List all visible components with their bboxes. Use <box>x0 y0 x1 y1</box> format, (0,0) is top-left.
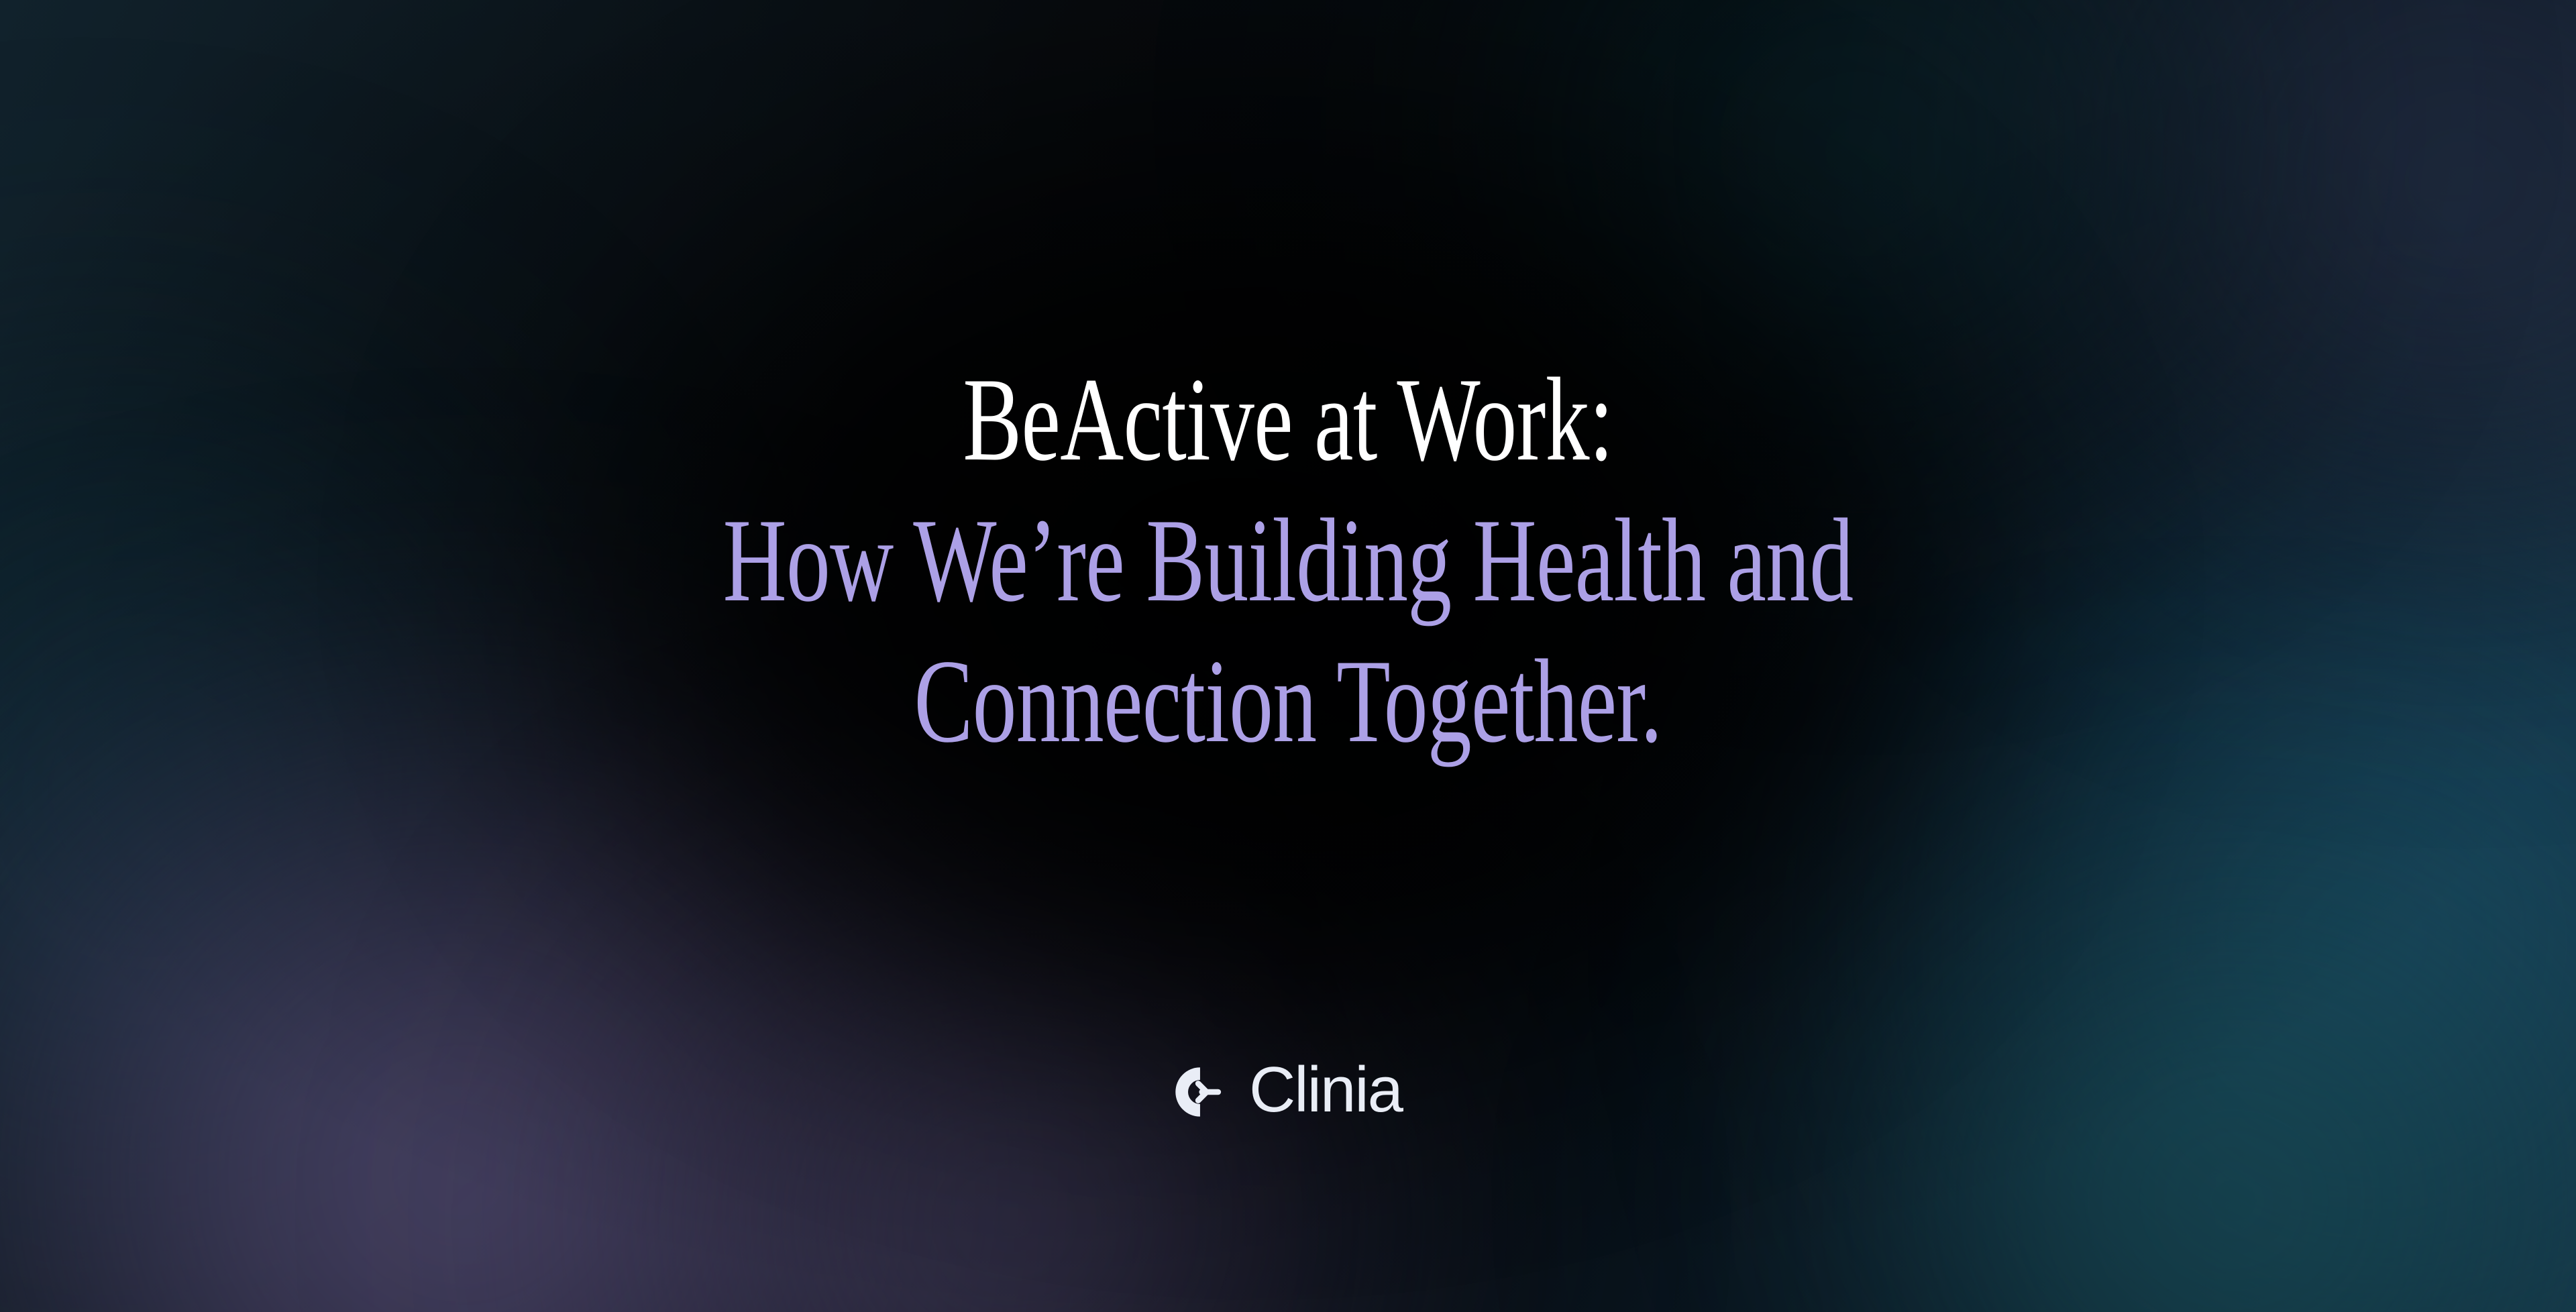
headline-line-3: Connection Together. <box>568 631 2008 771</box>
page-title: BeActive at Work: How We’re Building Hea… <box>568 349 2008 771</box>
title-slide: BeActive at Work: How We’re Building Hea… <box>0 0 2576 1312</box>
clinia-logo: Clinia <box>1174 1060 1402 1124</box>
headline-line-1: BeActive at Work: <box>568 349 2008 490</box>
headline-line-2: How We’re Building Health and <box>568 490 2008 631</box>
clinia-logomark <box>1174 1066 1226 1118</box>
clinia-wordmark: Clinia <box>1249 1058 1402 1122</box>
